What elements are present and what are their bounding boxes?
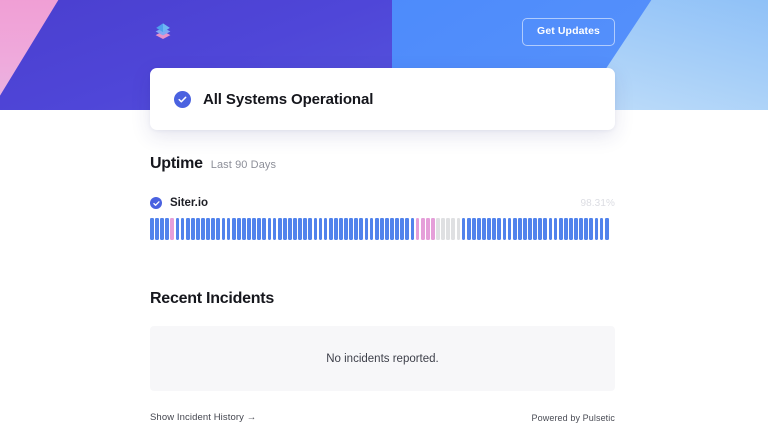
uptime-bar-chart[interactable] — [150, 218, 608, 240]
stacked-layers-logo-icon[interactable] — [152, 20, 174, 42]
uptime-bar[interactable] — [298, 218, 302, 240]
main-content: Uptime Last 90 Days Siter.io 98.31% Rece… — [150, 155, 615, 391]
uptime-bar[interactable] — [247, 218, 251, 240]
uptime-bar[interactable] — [242, 218, 246, 240]
uptime-bar[interactable] — [543, 218, 547, 240]
uptime-bar[interactable] — [467, 218, 471, 240]
uptime-bar[interactable] — [446, 218, 450, 240]
uptime-bar[interactable] — [329, 218, 333, 240]
check-circle-icon — [150, 197, 162, 209]
uptime-bar[interactable] — [334, 218, 338, 240]
header-pink-wedge — [0, 0, 110, 110]
uptime-bar[interactable] — [354, 218, 358, 240]
uptime-bar[interactable] — [319, 218, 323, 240]
uptime-bar[interactable] — [344, 218, 348, 240]
uptime-bar[interactable] — [589, 218, 593, 240]
uptime-bar[interactable] — [359, 218, 363, 240]
overall-status-card: All Systems Operational — [150, 68, 615, 130]
uptime-bar[interactable] — [324, 218, 328, 240]
uptime-bar[interactable] — [308, 218, 312, 240]
uptime-bar[interactable] — [549, 218, 553, 240]
uptime-bar[interactable] — [349, 218, 353, 240]
uptime-bar[interactable] — [497, 218, 501, 240]
uptime-bar[interactable] — [216, 218, 220, 240]
uptime-bar[interactable] — [385, 218, 389, 240]
uptime-bar[interactable] — [370, 218, 374, 240]
status-page: Get Updates All Systems Operational Upti… — [0, 0, 768, 435]
powered-by-credit: Powered by Pulsetic — [532, 413, 615, 423]
overall-status-label: All Systems Operational — [203, 91, 373, 108]
uptime-bar[interactable] — [211, 218, 215, 240]
uptime-bar[interactable] — [482, 218, 486, 240]
uptime-bar[interactable] — [160, 218, 164, 240]
uptime-bar[interactable] — [150, 218, 154, 240]
uptime-bar[interactable] — [579, 218, 583, 240]
uptime-bar[interactable] — [181, 218, 185, 240]
uptime-bar[interactable] — [191, 218, 195, 240]
uptime-bar[interactable] — [528, 218, 532, 240]
uptime-bar[interactable] — [584, 218, 588, 240]
uptime-bar[interactable] — [513, 218, 517, 240]
uptime-bar[interactable] — [222, 218, 226, 240]
uptime-bar[interactable] — [400, 218, 404, 240]
incidents-empty-panel: No incidents reported. — [150, 326, 615, 391]
uptime-bar[interactable] — [451, 218, 455, 240]
uptime-bar[interactable] — [574, 218, 578, 240]
uptime-bar[interactable] — [196, 218, 200, 240]
uptime-percentage: 98.31% — [580, 198, 615, 209]
uptime-bar[interactable] — [268, 218, 272, 240]
uptime-bar[interactable] — [416, 218, 420, 240]
uptime-bar[interactable] — [232, 218, 236, 240]
uptime-bar[interactable] — [165, 218, 169, 240]
uptime-bar[interactable] — [441, 218, 445, 240]
uptime-bar[interactable] — [176, 218, 180, 240]
uptime-bar[interactable] — [170, 218, 174, 240]
uptime-bar[interactable] — [390, 218, 394, 240]
uptime-bar[interactable] — [533, 218, 537, 240]
uptime-bar[interactable] — [314, 218, 318, 240]
uptime-bar[interactable] — [569, 218, 573, 240]
incidents-empty-message: No incidents reported. — [326, 353, 439, 365]
uptime-bar[interactable] — [595, 218, 599, 240]
check-circle-icon — [174, 91, 191, 108]
service-row: Siter.io 98.31% — [150, 197, 615, 209]
uptime-bar[interactable] — [523, 218, 527, 240]
uptime-bar[interactable] — [462, 218, 466, 240]
uptime-bar[interactable] — [293, 218, 297, 240]
uptime-bar[interactable] — [405, 218, 409, 240]
uptime-section-header: Uptime Last 90 Days — [150, 155, 615, 173]
uptime-bar[interactable] — [436, 218, 440, 240]
uptime-bar[interactable] — [421, 218, 425, 240]
uptime-bar[interactable] — [201, 218, 205, 240]
uptime-bar[interactable] — [600, 218, 604, 240]
uptime-title: Uptime — [150, 155, 203, 173]
uptime-bar[interactable] — [538, 218, 542, 240]
uptime-bar[interactable] — [257, 218, 261, 240]
uptime-bar[interactable] — [431, 218, 435, 240]
uptime-bar[interactable] — [492, 218, 496, 240]
uptime-bar[interactable] — [605, 218, 609, 240]
uptime-bar[interactable] — [503, 218, 507, 240]
uptime-bar[interactable] — [426, 218, 430, 240]
uptime-bar[interactable] — [395, 218, 399, 240]
uptime-bar[interactable] — [554, 218, 558, 240]
uptime-bar[interactable] — [380, 218, 384, 240]
service-identity: Siter.io — [150, 197, 208, 209]
uptime-bar[interactable] — [375, 218, 379, 240]
uptime-bar[interactable] — [273, 218, 277, 240]
uptime-bar[interactable] — [564, 218, 568, 240]
show-incident-history-link[interactable]: Show Incident History → — [150, 412, 256, 423]
uptime-bar[interactable] — [518, 218, 522, 240]
uptime-bar[interactable] — [457, 218, 461, 240]
uptime-bar[interactable] — [186, 218, 190, 240]
uptime-bar[interactable] — [559, 218, 563, 240]
uptime-bar[interactable] — [278, 218, 282, 240]
uptime-bar[interactable] — [303, 218, 307, 240]
uptime-subtitle: Last 90 Days — [211, 159, 276, 171]
incidents-title: Recent Incidents — [150, 290, 274, 308]
uptime-bar[interactable] — [508, 218, 512, 240]
uptime-bar[interactable] — [487, 218, 491, 240]
uptime-bar[interactable] — [288, 218, 292, 240]
uptime-bar[interactable] — [252, 218, 256, 240]
uptime-bar[interactable] — [411, 218, 415, 240]
uptime-bar[interactable] — [365, 218, 369, 240]
uptime-bar[interactable] — [283, 218, 287, 240]
uptime-bar[interactable] — [339, 218, 343, 240]
service-name-label: Siter.io — [170, 197, 208, 209]
uptime-bar[interactable] — [237, 218, 241, 240]
uptime-bar[interactable] — [206, 218, 210, 240]
get-updates-button[interactable]: Get Updates — [522, 18, 615, 46]
uptime-bar[interactable] — [262, 218, 266, 240]
uptime-bar[interactable] — [227, 218, 231, 240]
uptime-bar[interactable] — [477, 218, 481, 240]
uptime-bar[interactable] — [472, 218, 476, 240]
page-footer: Show Incident History → Powered by Pulse… — [150, 412, 615, 423]
uptime-bar[interactable] — [155, 218, 159, 240]
incidents-section-header: Recent Incidents — [150, 290, 615, 308]
